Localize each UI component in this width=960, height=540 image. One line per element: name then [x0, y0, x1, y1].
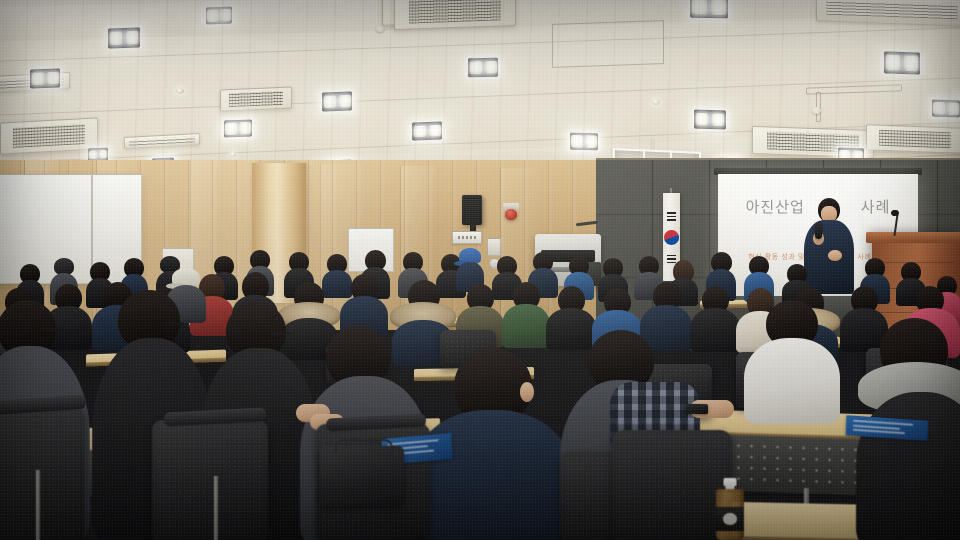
attendee-mid — [502, 282, 550, 346]
presenter-hand — [828, 250, 842, 261]
ceiling-downlight — [224, 120, 252, 138]
bag-handle — [335, 439, 393, 452]
ceiling-spot-light — [652, 99, 660, 105]
ceiling-downlight — [108, 27, 140, 48]
ceiling-downlight — [206, 7, 232, 25]
ceiling-access-panel — [552, 20, 664, 68]
attendee-mid — [690, 286, 740, 350]
ac-cassette-unit — [394, 0, 516, 30]
glasses — [164, 322, 184, 325]
ceiling-downlight — [932, 100, 960, 118]
wall-switch-plate[interactable] — [487, 238, 501, 256]
ac-cassette-unit — [382, 0, 488, 26]
air-diffuser — [0, 72, 70, 93]
glasses — [42, 328, 64, 331]
smartphone[interactable] — [686, 404, 708, 414]
smoke-detector — [812, 107, 821, 114]
torso — [744, 338, 840, 424]
attendee-cream-sweater — [744, 300, 840, 418]
taeguk-symbol — [664, 230, 679, 245]
drink-bottle[interactable] — [716, 478, 744, 540]
seminar-photo: 아진산업사례 혁신 활동 성과 및 개선 기법 적용 사례 발표 — [0, 0, 960, 540]
shoulder-bag[interactable] — [320, 446, 404, 506]
ceiling-access-panel — [816, 92, 821, 122]
air-diffuser — [816, 0, 960, 27]
chair-foreground[interactable] — [612, 430, 732, 540]
ceiling-downlight — [322, 91, 352, 111]
ear — [520, 382, 534, 402]
ac-cassette-unit — [0, 117, 98, 154]
fire-alarm-bell-icon — [505, 209, 517, 220]
ceiling-downlight — [884, 51, 920, 74]
chair-foreground[interactable] — [0, 408, 84, 540]
ceiling-downlight — [468, 58, 498, 78]
glasses — [270, 332, 290, 335]
ceiling-downlight — [690, 0, 728, 18]
ceiling-downlight — [694, 110, 726, 130]
smoke-detector — [376, 26, 384, 32]
chair-post — [214, 476, 218, 540]
chair-foreground[interactable] — [152, 420, 268, 540]
ceiling-downlight — [412, 121, 442, 140]
ac-cassette-unit — [752, 126, 874, 158]
ceiling-spot-light — [230, 152, 236, 157]
ac-cassette-unit — [220, 86, 292, 111]
ceiling-spot-light — [176, 88, 184, 94]
torso — [412, 410, 572, 540]
wall-speaker — [462, 195, 482, 225]
ceiling-access-panel — [806, 84, 902, 94]
air-diffuser — [124, 133, 200, 149]
chair-post — [36, 470, 40, 540]
bottle-label — [716, 507, 744, 532]
ceiling-downlight — [570, 133, 598, 150]
handheld-microphone — [815, 222, 822, 239]
podium-microphone — [891, 210, 899, 216]
ac-cassette-unit — [866, 124, 960, 153]
room-sign — [452, 231, 482, 244]
ceiling-downlight — [30, 68, 60, 88]
torso — [856, 392, 960, 540]
